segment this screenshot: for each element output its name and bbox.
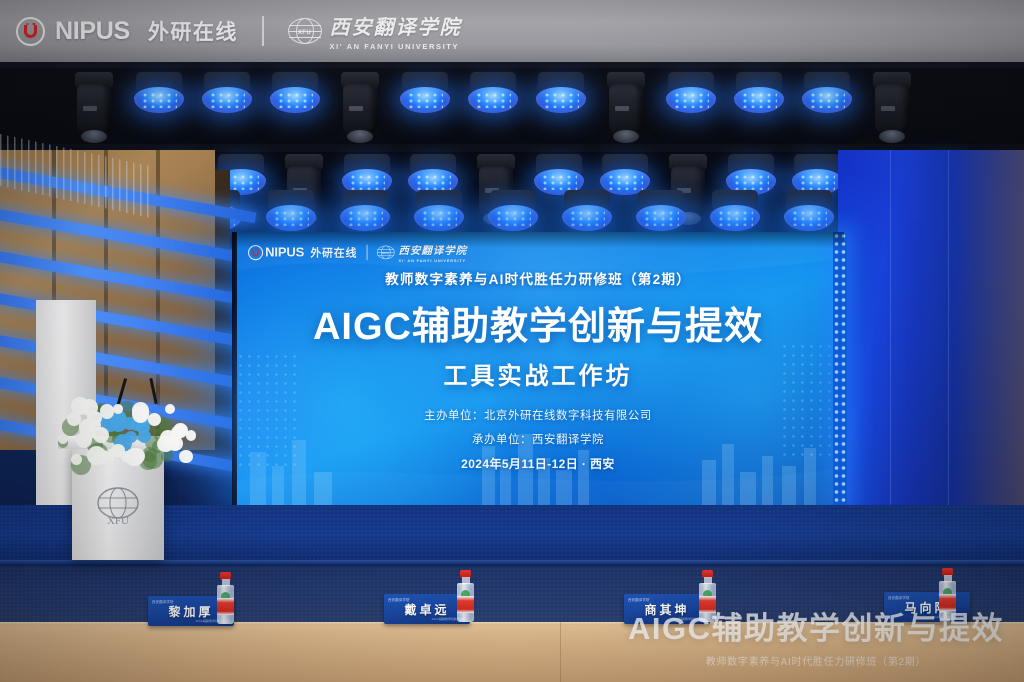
event-stage-photo: NIPUS 外研在线 XFU 西安翻译学院 XI' AN FANYI UNIVE… — [0, 0, 1024, 682]
placard-top-label: 西安翻译学院 — [152, 599, 174, 604]
logo-divider — [262, 16, 264, 46]
par-can-light — [200, 72, 254, 114]
par-can-light — [560, 190, 614, 232]
par-can-light — [486, 190, 540, 232]
xfu-chinese-name: 西安翻译学院 — [330, 11, 462, 40]
unipus-chinese-name: 外研在线 — [148, 16, 238, 46]
par-can-light — [268, 72, 322, 114]
par-can-light — [634, 190, 688, 232]
unipus-wordmark: NIPUS — [55, 17, 130, 46]
placard-name: 商其坤 — [644, 601, 689, 618]
xfu-globe-tag: XFU — [298, 30, 311, 36]
screen-organizer-line: 承办单位：西安翻译学院 — [472, 431, 604, 447]
par-can-light — [664, 72, 718, 114]
unipus-icon — [16, 17, 45, 46]
svg-text:XFU: XFU — [107, 515, 129, 527]
flower — [58, 434, 68, 444]
moving-head-light — [868, 72, 916, 150]
screen-host-line: 主办单位：北京外研在线数字科技有限公司 — [424, 407, 652, 423]
screen-top-shadow — [232, 232, 844, 248]
par-can-light — [534, 72, 588, 114]
front-table — [0, 622, 1024, 682]
par-can-light — [264, 190, 318, 232]
name-placard: 西安翻译学院 马向阳 AIGC辅助教学创新与提效 — [884, 592, 970, 622]
flower — [179, 450, 192, 463]
screen-right-pixel-edge — [833, 232, 847, 510]
flower — [101, 451, 110, 460]
flower — [100, 404, 114, 418]
top-logo-banner: NIPUS 外研在线 XFU 西安翻译学院 XI' AN FANYI UNIVE… — [0, 0, 1024, 62]
flower — [132, 402, 150, 420]
placard-top-label: 西安翻译学院 — [628, 597, 650, 602]
par-can-light — [800, 72, 854, 114]
moving-head-light — [336, 72, 384, 150]
water-bottle — [456, 570, 475, 622]
flower — [71, 454, 82, 465]
flower — [165, 404, 175, 414]
light-row-upper — [70, 72, 916, 150]
water-bottle — [938, 568, 957, 620]
stage-step-edge — [0, 560, 1024, 566]
par-can-light — [398, 72, 452, 114]
par-can-light — [732, 72, 786, 114]
par-can-light — [708, 190, 762, 232]
flower — [125, 448, 144, 467]
placard-name: 戴卓远 — [404, 601, 449, 618]
placard-top-label: 西安翻译学院 — [388, 597, 410, 602]
par-can-light — [466, 72, 520, 114]
flower — [113, 404, 122, 413]
moving-head-light — [70, 72, 118, 150]
screen-kicker: 教师数字素养与AI时代胜任力研修班（第2期） — [232, 268, 844, 288]
flower — [157, 436, 174, 453]
moving-head-light — [602, 72, 650, 150]
water-bottle — [698, 570, 717, 622]
xfu-globe-icon: XFU — [288, 18, 322, 44]
xfu-english-name: XI' AN FANYI UNIVERSITY — [330, 42, 462, 51]
par-can-light — [338, 190, 392, 232]
par-can-light — [132, 72, 186, 114]
xfu-lockup: XFU 西安翻译学院 XI' AN FANYI UNIVERSITY — [288, 11, 462, 51]
placard-name: 黎加厚 — [168, 603, 213, 620]
screen-date-line: 2024年5月11日-12日 · 西安 — [461, 455, 615, 472]
placard-top-label: 西安翻译学院 — [888, 595, 910, 600]
par-can-light — [782, 190, 836, 232]
par-can-light — [412, 190, 466, 232]
xfu-podium-logo-icon: XFU — [91, 484, 145, 528]
flower — [111, 444, 124, 457]
screen-xfu-en: XI' AN FANYI UNIVERSITY — [399, 258, 468, 263]
floral-arrangement — [46, 382, 192, 464]
water-bottle — [216, 572, 235, 624]
